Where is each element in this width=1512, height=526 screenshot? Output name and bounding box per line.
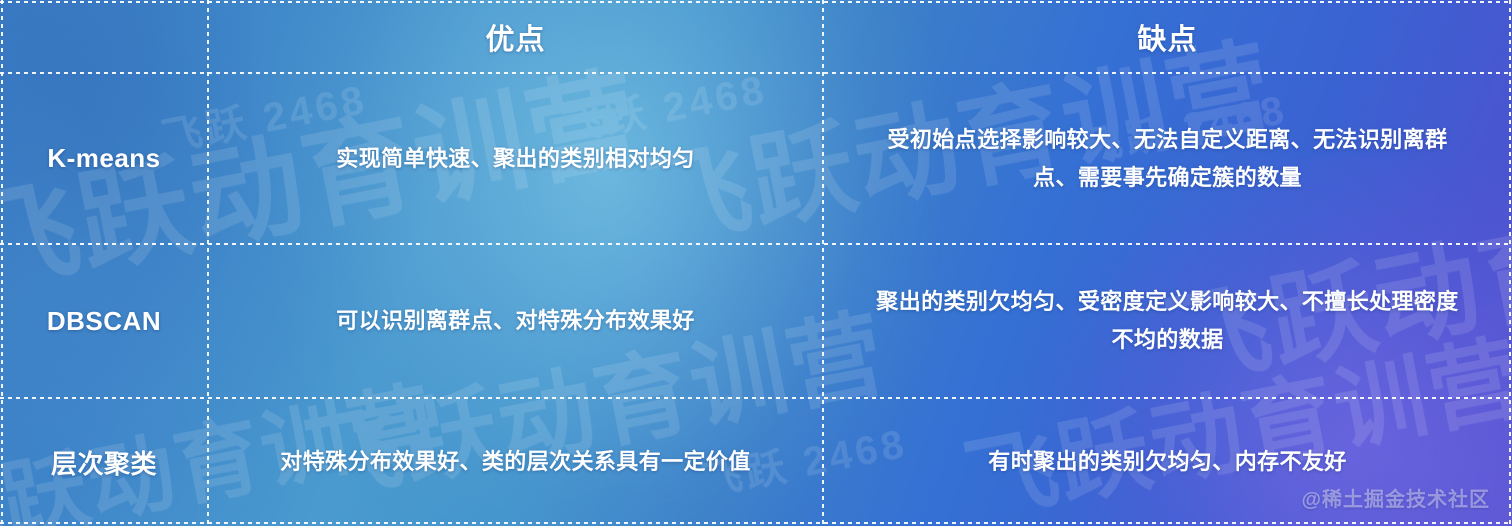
table-row: K-means <box>0 73 208 244</box>
algorithm-name: K-means <box>47 143 160 174</box>
table-row: 可以识别离群点、对特殊分布效果好 <box>208 244 823 398</box>
algorithm-cons: 聚出的类别欠均匀、受密度定义影响较大、不擅长处理密度不均的数据 <box>873 283 1463 359</box>
table-header-pros-label: 优点 <box>485 16 545 58</box>
algorithm-pros: 可以识别离群点、对特殊分布效果好 <box>336 302 694 340</box>
algorithm-cons: 有时聚出的类别欠均匀、内存不友好 <box>988 443 1346 481</box>
table-row: 实现简单快速、聚出的类别相对均匀 <box>208 73 823 244</box>
comparison-table: 优点 缺点 K-means 实现简单快速、聚出的类别相对均匀 受初始点选择影响较… <box>0 0 1512 526</box>
table-header-cons-label: 缺点 <box>1137 16 1197 58</box>
table-row: 对特殊分布效果好、类的层次关系具有一定价值 <box>208 398 823 526</box>
table-header-pros: 优点 <box>208 0 823 73</box>
algorithm-name: 层次聚类 <box>51 444 157 481</box>
table-header-corner <box>0 0 208 73</box>
corner-watermark: @稀土掘金技术社区 <box>1301 483 1490 512</box>
table-row: 层次聚类 <box>0 398 208 526</box>
table-row: 聚出的类别欠均匀、受密度定义影响较大、不擅长处理密度不均的数据 <box>823 244 1512 398</box>
table-header-cons: 缺点 <box>823 0 1512 73</box>
table-row: DBSCAN <box>0 244 208 398</box>
comparison-table-slide: 飞跃动育训营 飞跃动育训营 飞跃动育训营 飞跃动育训营 飞跃动育训营 飞跃动育训… <box>0 0 1512 526</box>
algorithm-pros: 对特殊分布效果好、类的层次关系具有一定价值 <box>280 443 750 481</box>
table-row: 受初始点选择影响较大、无法自定义距离、无法识别离群点、需要事先确定簇的数量 <box>823 73 1512 244</box>
algorithm-cons: 受初始点选择影响较大、无法自定义距离、无法识别离群点、需要事先确定簇的数量 <box>873 121 1463 197</box>
algorithm-pros: 实现简单快速、聚出的类别相对均匀 <box>336 140 694 178</box>
algorithm-name: DBSCAN <box>47 306 161 337</box>
